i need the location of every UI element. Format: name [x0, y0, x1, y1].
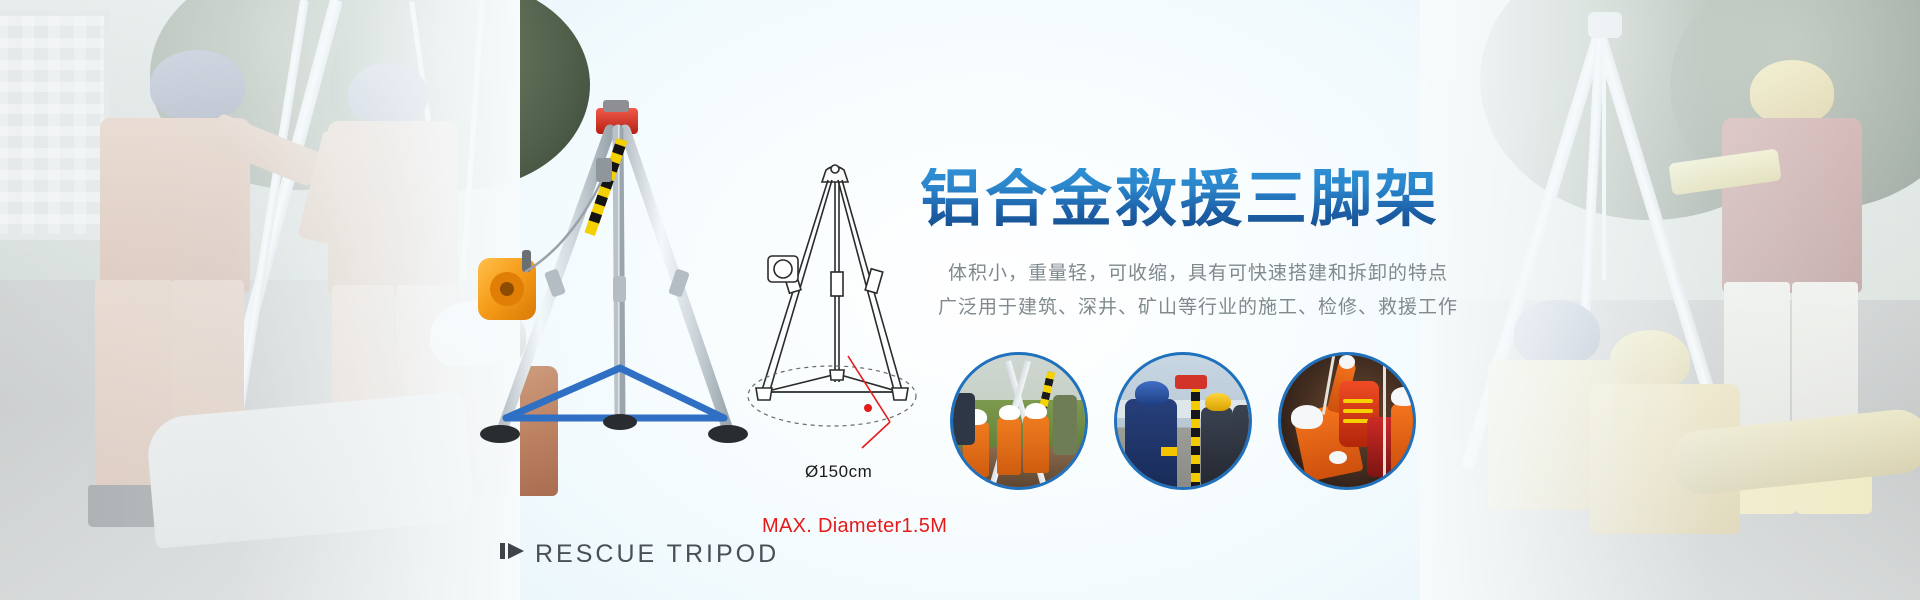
subtitle-line-2: 广泛用于建筑、深井、矿山等行业的施工、检修、救援工作 [938, 292, 1458, 319]
tripod-sketch-illustration [740, 160, 930, 470]
site-inspection-photo[interactable] [1114, 352, 1252, 490]
winch-housing [1175, 375, 1207, 389]
callout-dot [864, 404, 872, 412]
play-triangle-svg [500, 540, 526, 562]
worker-blue [1125, 399, 1177, 490]
play-triangle-icon [500, 540, 526, 569]
winch [478, 250, 536, 320]
page-title: 铝合金救援三脚架 [920, 168, 1440, 230]
tripod-illustration [470, 100, 770, 480]
rope [1383, 355, 1386, 487]
thumb3-scene [1281, 355, 1413, 487]
product-photo-tripod [470, 100, 770, 480]
diameter-callout: Ø150cm [805, 462, 872, 482]
yellow-armband [1161, 447, 1177, 456]
worker [997, 417, 1021, 475]
right-photo-fade-overlay [1420, 0, 1920, 600]
max-diameter-label: MAX. Diameter1.5M [762, 515, 947, 538]
product-banner: Ø150cm MAX. Diameter1.5M RESCUE TRIPOD 铝… [0, 0, 1920, 600]
product-diagram-tripod-sketch [740, 160, 930, 470]
helmet-icon [1205, 393, 1231, 411]
helmet-icon [1391, 387, 1416, 406]
confined-space-rescue-photo[interactable] [1278, 352, 1416, 490]
hazard-pole [1191, 383, 1200, 490]
helmet-icon [999, 405, 1020, 420]
worker-dark [1201, 407, 1233, 490]
left-photo-fade-overlay [0, 0, 520, 600]
tripod-leg [618, 130, 620, 418]
thumb2-scene [1117, 355, 1249, 487]
left-rescue-team-photo [0, 0, 520, 600]
callout-leader [848, 356, 890, 448]
worker [1023, 415, 1049, 473]
product-english-label-text: RESCUE TRIPOD [535, 540, 779, 569]
subtitle-line-1: 体积小，重量轻，可收缩，具有可快速搭建和拆卸的特点 [948, 258, 1448, 285]
rescuer-right [1391, 403, 1416, 473]
helmet-icon [1025, 403, 1047, 419]
thumb1-scene [953, 355, 1085, 487]
helmet-icon [1291, 405, 1323, 429]
product-english-label: RESCUE TRIPOD [500, 540, 779, 569]
reflective-stripe [1343, 399, 1373, 403]
reflective-stripe [1343, 409, 1373, 413]
field-rescue-tripod-photo[interactable] [950, 352, 1088, 490]
worker [1053, 395, 1077, 455]
worker-dark [1233, 405, 1252, 490]
glove [1329, 451, 1347, 464]
pulley [596, 158, 612, 182]
worker [953, 393, 975, 445]
helmet-icon [1135, 381, 1169, 405]
glove [1339, 355, 1355, 369]
right-rescue-operation-photo [1420, 0, 1920, 600]
